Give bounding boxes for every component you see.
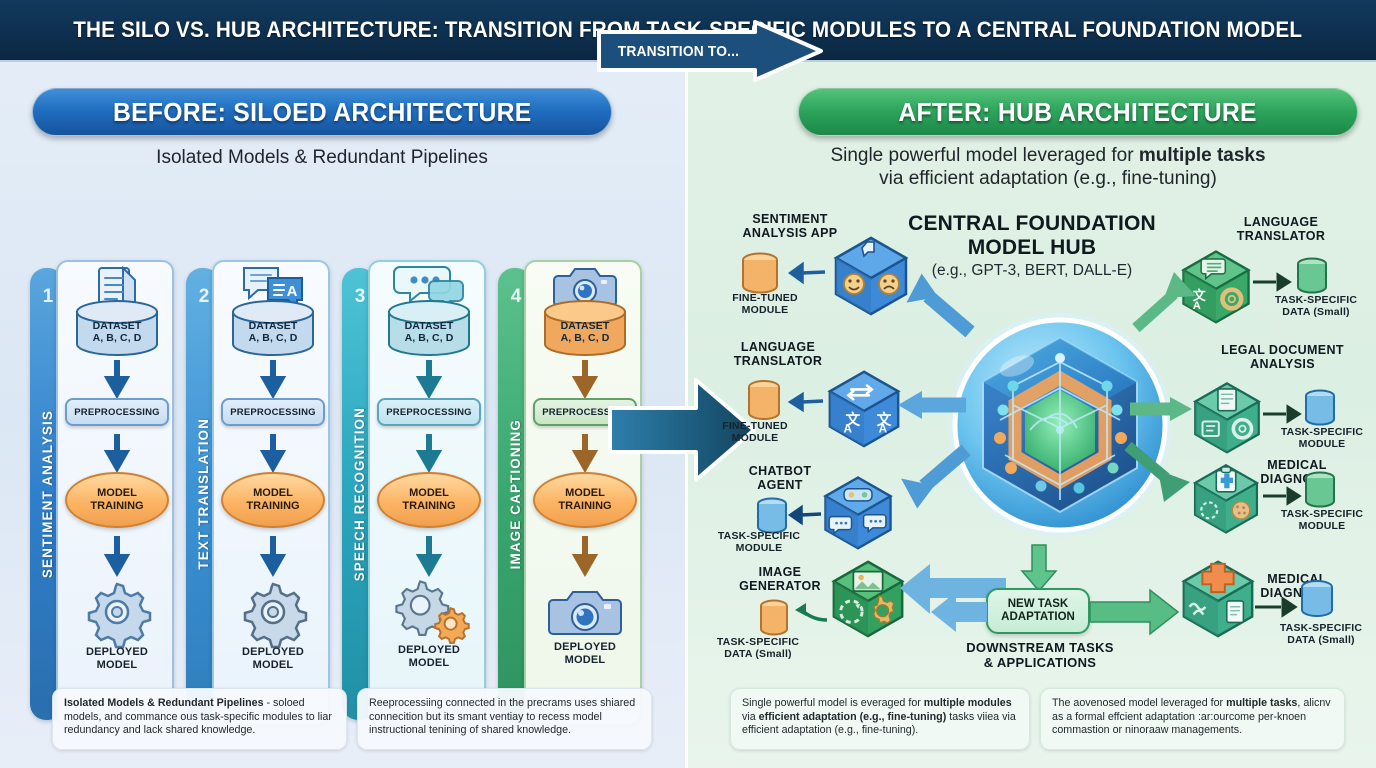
imagegen-title-l1: IMAGE bbox=[759, 565, 802, 579]
after-subtitle-line1a: Single powerful model leveraged for bbox=[830, 145, 1138, 166]
translator-left-cap-l2: MODULE bbox=[732, 432, 779, 444]
pipeline-2-dataset-line2: A, B, C, D bbox=[249, 332, 298, 344]
pipeline-3-dataset-line1: DATASET bbox=[405, 320, 454, 332]
pipeline-2-training-line1: MODEL bbox=[253, 487, 293, 499]
cap-label-medical-upper: TASK-SPECIFIC MODULE bbox=[1268, 508, 1376, 532]
hub-arrow-to-legal-icon bbox=[1130, 396, 1194, 422]
imagegen-cap-l2: DATA (Small) bbox=[724, 648, 792, 660]
pipeline-1-model-training: MODEL TRAINING bbox=[65, 472, 169, 528]
pipeline-1-dataset-cylinder: DATASET A, B, C, D bbox=[71, 300, 163, 352]
pipeline-1-dataset-line1: DATASET bbox=[93, 320, 142, 332]
pipeline-1-training-line1: MODEL bbox=[97, 487, 137, 499]
caption-card-1: Isolated Models & Redundant Pipelines - … bbox=[52, 688, 347, 750]
legal-cap-l2: MODULE bbox=[1299, 438, 1346, 450]
pipeline-2-deployed-line1: DEPLOYED bbox=[242, 646, 304, 658]
pipeline-1-dataset-line2: A, B, C, D bbox=[93, 332, 142, 344]
cap-label-translator-left: FINE-TUNED MODULE bbox=[700, 420, 810, 444]
camera-icon bbox=[549, 586, 621, 640]
pipeline-1-vertical-label: SENTIMENT ANALYSIS bbox=[40, 410, 55, 578]
after-header-label: AFTER: HUB ARCHITECTURE bbox=[899, 97, 1257, 128]
arrow-down-icon bbox=[264, 434, 282, 468]
pipeline-speech-recognition: SPEECH RECOGNITION 3 bbox=[342, 260, 488, 730]
pipeline-2-dataset-line1: DATASET bbox=[249, 320, 298, 332]
pipeline-sentiment-analysis: SENTIMENT ANALYSIS 1 bbox=[30, 260, 176, 730]
arrow-down-icon bbox=[420, 434, 438, 468]
pipeline-1-body: DATASET A, B, C, D PREPROCESSING bbox=[56, 260, 174, 726]
hub-arrow-to-translator-right-icon bbox=[1130, 266, 1200, 336]
pipeline-1-deployed-line1: DEPLOYED bbox=[86, 646, 148, 658]
pipeline-3-number: 3 bbox=[350, 286, 370, 308]
pipeline-3-training-line1: MODEL bbox=[409, 487, 449, 499]
svg-text:A: A bbox=[843, 422, 852, 435]
orange-database-icon bbox=[755, 598, 793, 640]
pipeline-3-preprocessing: PREPROCESSING bbox=[377, 398, 481, 426]
chatbot-cap-l1: TASK-SPECIFIC bbox=[718, 530, 800, 542]
image-gen-cube-icon bbox=[826, 556, 910, 640]
translator-right-cap-l1: TASK-SPECIFIC bbox=[1275, 294, 1357, 306]
arrow-down-icon bbox=[108, 360, 126, 394]
cap-label-legal: TASK-SPECIFIC MODULE bbox=[1268, 426, 1376, 450]
sentiment-title-l2: ANALYSIS APP bbox=[743, 226, 838, 240]
pipeline-1-number: 1 bbox=[38, 286, 58, 308]
translator-left-title-l1: LANGUAGE bbox=[741, 340, 815, 354]
caption-3-d: efficient adaptation (e.g., fine-tuning) bbox=[759, 711, 947, 723]
after-subtitle-line2: via efficient adaptation (e.g., fine-tun… bbox=[879, 168, 1217, 189]
node-label-legal-document-analysis: LEGAL DOCUMENT ANALYSIS bbox=[1190, 343, 1375, 371]
pipeline-2-body: A DATASET A, B, C, D bbox=[212, 260, 330, 726]
translate-cube-icon: 文 A 文 A bbox=[822, 366, 906, 450]
caption-3-b: multiple modules bbox=[924, 697, 1012, 709]
legal-title-l2: ANALYSIS bbox=[1250, 357, 1315, 371]
legal-cap-l1: TASK-SPECIFIC bbox=[1281, 426, 1363, 438]
downstream-l2: & APPLICATIONS bbox=[984, 655, 1097, 670]
translator-left-cap-l1: FINE-TUNED bbox=[722, 420, 788, 432]
arrow-down-icon bbox=[420, 360, 438, 394]
before-panel: BEFORE: SILOED ARCHITECTURE Isolated Mod… bbox=[0, 62, 688, 768]
caption-1-bold: Isolated Models & Redundant Pipelines bbox=[64, 697, 264, 709]
caption-3-c: via bbox=[742, 711, 759, 723]
sentiment-cap-l1: FINE-TUNED bbox=[732, 292, 798, 304]
before-subtitle: Isolated Models & Redundant Pipelines bbox=[32, 146, 612, 169]
pipeline-4-vertical-label: IMAGE CAPTIONING bbox=[508, 419, 523, 569]
hub-title-line1: CENTRAL FOUNDATION bbox=[908, 212, 1156, 235]
caption-3-a: Single powerful model is everaged for bbox=[742, 697, 924, 709]
translator-right-cap-l2: DATA (Small) bbox=[1282, 306, 1350, 318]
orange-database-icon bbox=[736, 250, 784, 298]
pipeline-3-deployed-line1: DEPLOYED bbox=[398, 644, 460, 656]
transition-label: TRANSITION TO... bbox=[614, 39, 742, 65]
pipeline-1-deployed-line2: MODEL bbox=[97, 659, 138, 671]
medical2-cap-l2: DATA (Small) bbox=[1287, 634, 1355, 646]
pipeline-4-training-line1: MODEL bbox=[565, 487, 605, 499]
node-label-language-translator-right: LANGUAGE TRANSLATOR bbox=[1196, 215, 1366, 243]
cap-label-translator-right: TASK-SPECIFIC DATA (Small) bbox=[1262, 294, 1370, 318]
arrow-left-curved-icon bbox=[790, 600, 828, 626]
node-label-language-translator-left: LANGUAGE TRANSLATOR bbox=[688, 340, 868, 368]
chatbot-title-l2: AGENT bbox=[757, 478, 803, 492]
after-subtitle: Single powerful model leveraged for mult… bbox=[748, 144, 1348, 190]
caption-4-a: The aovenosed model leveraged for bbox=[1052, 697, 1226, 709]
arrow-left-icon bbox=[790, 392, 824, 412]
arrow-down-icon bbox=[264, 360, 282, 394]
pipeline-4-deployed-line1: DEPLOYED bbox=[554, 641, 616, 653]
arrow-right-green-icon bbox=[1088, 586, 1180, 638]
pipeline-2-model-training: MODEL TRAINING bbox=[221, 472, 325, 528]
gear-icon bbox=[85, 580, 149, 644]
pipeline-1-training-line2: TRAINING bbox=[90, 500, 143, 512]
imagegen-cap-l1: TASK-SPECIFIC bbox=[717, 636, 799, 648]
before-header-pill: BEFORE: SILOED ARCHITECTURE bbox=[32, 88, 612, 136]
legal-title-l1: LEGAL DOCUMENT bbox=[1221, 343, 1344, 357]
arrow-right-icon bbox=[1252, 272, 1290, 292]
chatbot-cap-l2: MODULE bbox=[736, 542, 783, 554]
legal-cube-icon bbox=[1188, 378, 1266, 456]
hub-arrow-to-chatbot-icon bbox=[888, 440, 974, 512]
hub-arrow-to-translator-icon bbox=[898, 390, 968, 420]
pipeline-2-dataset-cylinder: DATASET A, B, C, D bbox=[227, 300, 319, 352]
hub-arrow-to-medical-icon bbox=[1124, 440, 1196, 508]
arrow-left-blue-icon bbox=[930, 590, 988, 634]
pipeline-4-dataset-cylinder: DATASET A, B, C, D bbox=[539, 300, 631, 352]
pipeline-4-body: DATASET A, B, C, D PREPROCESSING bbox=[524, 260, 642, 726]
medical1-cap-l2: MODULE bbox=[1299, 520, 1346, 532]
medical-cross-cube-icon bbox=[1176, 556, 1260, 640]
imagegen-title-l2: GENERATOR bbox=[739, 579, 821, 593]
after-header-pill: AFTER: HUB ARCHITECTURE bbox=[798, 88, 1358, 136]
arrow-down-icon bbox=[576, 360, 594, 394]
arrow-right-icon bbox=[1254, 596, 1296, 618]
pipeline-4-dataset-line1: DATASET bbox=[561, 320, 610, 332]
arrow-down-icon bbox=[264, 536, 282, 572]
downstream-l1: DOWNSTREAM TASKS bbox=[966, 640, 1114, 655]
caption-card-3: Single powerful model is everaged for mu… bbox=[730, 688, 1030, 750]
pipeline-text-translation: TEXT TRANSLATION 2 A bbox=[186, 260, 332, 730]
pipeline-4-dataset-line2: A, B, C, D bbox=[561, 332, 610, 344]
sentiment-title-l1: SENTIMENT bbox=[752, 212, 827, 226]
svg-text:A: A bbox=[287, 283, 298, 300]
pipeline-2-training-line2: TRAINING bbox=[246, 500, 299, 512]
after-subtitle-line1b: multiple tasks bbox=[1139, 145, 1266, 166]
pipeline-4-training-line2: TRAINING bbox=[558, 500, 611, 512]
pipeline-3-dataset-cylinder: DATASET A, B, C, D bbox=[383, 300, 475, 352]
translator-right-title-l2: TRANSLATOR bbox=[1237, 229, 1325, 243]
pipeline-3-model-training: MODEL TRAINING bbox=[377, 472, 481, 528]
hub-arrow-to-sentiment-icon bbox=[900, 270, 980, 340]
arrow-down-icon bbox=[576, 434, 594, 468]
arrow-down-green-icon bbox=[1020, 545, 1058, 593]
before-header-label: BEFORE: SILOED ARCHITECTURE bbox=[113, 97, 531, 128]
blue-database-icon bbox=[1296, 578, 1338, 624]
transition-badge: TRANSITION TO... bbox=[595, 20, 825, 82]
infographic-root: THE SILO VS. HUB ARCHITECTURE: TRANSITIO… bbox=[0, 0, 1376, 768]
arrow-down-icon bbox=[108, 536, 126, 572]
pipeline-3-vertical-label: SPEECH RECOGNITION bbox=[352, 407, 367, 581]
translator-left-title-l2: TRANSLATOR bbox=[734, 354, 822, 368]
sentiment-cap-l2: MODULE bbox=[742, 304, 789, 316]
arrow-down-icon bbox=[420, 536, 438, 572]
new-task-adaptation-box: NEW TASKADAPTATION bbox=[986, 588, 1090, 634]
pipeline-2-deployed-line2: MODEL bbox=[253, 659, 294, 671]
arrow-down-icon bbox=[576, 536, 594, 572]
pipeline-2-preprocessing: PREPROCESSING bbox=[221, 398, 325, 426]
svg-text:A: A bbox=[879, 422, 888, 435]
cap-label-chatbot: TASK-SPECIFIC MODULE bbox=[702, 530, 816, 554]
pipeline-4-number: 4 bbox=[506, 286, 526, 308]
translator-right-title-l1: LANGUAGE bbox=[1244, 215, 1318, 229]
cap-label-imagegen: TASK-SPECIFIC DATA (Small) bbox=[700, 636, 816, 660]
chatbot-title-l1: CHATBOT bbox=[749, 464, 812, 478]
pipeline-2-number: 2 bbox=[194, 286, 214, 308]
medical2-cap-l1: TASK-SPECIFIC bbox=[1280, 622, 1362, 634]
pipeline-1-preprocessing: PREPROCESSING bbox=[65, 398, 169, 426]
arrow-down-icon bbox=[108, 434, 126, 468]
cap-label-medical-lower: TASK-SPECIFIC DATA (Small) bbox=[1266, 622, 1376, 646]
arrow-right-icon bbox=[1262, 486, 1300, 506]
arrow-left-icon bbox=[790, 262, 826, 284]
medical1-cap-l1: TASK-SPECIFIC bbox=[1281, 508, 1363, 520]
pipeline-image-captioning: IMAGE CAPTIONING 4 bbox=[498, 260, 644, 730]
cap-label-sentiment: FINE-TUNED MODULE bbox=[710, 292, 820, 316]
medical-cube-icon bbox=[1188, 460, 1264, 536]
pipeline-3-dataset-line2: A, B, C, D bbox=[405, 332, 454, 344]
pipeline-3-training-line2: TRAINING bbox=[402, 500, 455, 512]
caption-card-2: Reeprocessiing connected in the precrams… bbox=[357, 688, 652, 750]
arrow-right-icon bbox=[1262, 404, 1300, 424]
gear-icon bbox=[241, 580, 305, 644]
pipeline-3-body: DATASET A, B, C, D PREPROCESSING bbox=[368, 260, 486, 726]
orange-database-icon bbox=[742, 378, 786, 424]
hub-title-line2: MODEL HUB bbox=[968, 236, 1097, 259]
pipeline-3-deployed-line2: MODEL bbox=[409, 657, 450, 669]
caption-4-b: multiple tasks bbox=[1226, 697, 1297, 709]
pipeline-4-deployed-line2: MODEL bbox=[565, 654, 606, 666]
gears-icon bbox=[391, 578, 467, 644]
new-task-l1: NEW TASK bbox=[1008, 598, 1068, 610]
pipeline-2-vertical-label: TEXT TRANSLATION bbox=[196, 418, 211, 570]
downstream-tasks-label: DOWNSTREAM TASKS & APPLICATIONS bbox=[930, 640, 1150, 670]
chatbot-cube-icon bbox=[818, 472, 898, 552]
caption-card-4: The aovenosed model leveraged for multip… bbox=[1040, 688, 1345, 750]
new-task-l2: ADAPTATION bbox=[1001, 611, 1075, 623]
